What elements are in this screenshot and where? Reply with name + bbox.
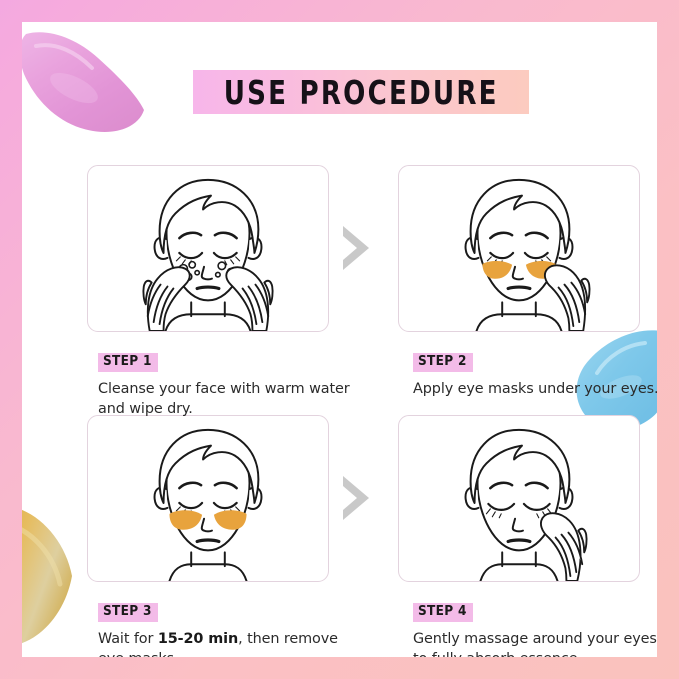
caption-step-4: STEP 4 Gently massage around your eyes t… xyxy=(413,600,657,657)
step-text-before: Wait for xyxy=(98,631,158,647)
step-description: Cleanse your face with warm water and wi… xyxy=(98,379,368,420)
chevron-right-icon xyxy=(335,472,377,524)
face-massaging-illustration xyxy=(399,416,639,581)
step-text-before: Gently massage around your eyes to fully… xyxy=(413,631,657,657)
step-badge: STEP 2 xyxy=(413,353,473,372)
face-applying-mask-illustration xyxy=(399,166,639,331)
step-text-before: Cleanse your face with warm water and wi… xyxy=(98,381,350,417)
illustration-panel-step-3 xyxy=(87,415,329,582)
gold-gel-eye-patch-icon xyxy=(22,500,74,652)
purple-gel-eye-patch-icon xyxy=(22,32,146,137)
page-title-banner: USE PROCEDURE xyxy=(193,70,529,114)
poster-frame: USE PROCEDURE xyxy=(0,0,679,679)
face-resting-with-masks-illustration xyxy=(88,416,328,581)
step-badge: STEP 1 xyxy=(98,353,158,372)
face-washing-illustration xyxy=(88,166,328,331)
caption-step-2: STEP 2 Apply eye masks under your eyes. xyxy=(413,350,657,399)
illustration-panel-step-4 xyxy=(398,415,640,582)
step-description: Apply eye masks under your eyes. xyxy=(413,379,657,399)
illustration-panel-step-2 xyxy=(398,165,640,332)
illustration-panel-step-1 xyxy=(87,165,329,332)
caption-step-3: STEP 3 Wait for 15-20 min, then remove e… xyxy=(98,600,368,657)
poster-content: USE PROCEDURE xyxy=(22,22,657,657)
step-description: Wait for 15-20 min, then remove eye mask… xyxy=(98,629,368,657)
step-description: Gently massage around your eyes to fully… xyxy=(413,629,657,657)
caption-step-1: STEP 1 Cleanse your face with warm water… xyxy=(98,350,368,419)
page-title: USE PROCEDURE xyxy=(224,73,499,112)
step-badge: STEP 4 xyxy=(413,603,473,622)
step-badge: STEP 3 xyxy=(98,603,158,622)
step-text-bold: 15-20 min xyxy=(158,631,238,647)
chevron-right-icon xyxy=(335,222,377,274)
step-text-before: Apply eye masks under your eyes. xyxy=(413,381,657,397)
